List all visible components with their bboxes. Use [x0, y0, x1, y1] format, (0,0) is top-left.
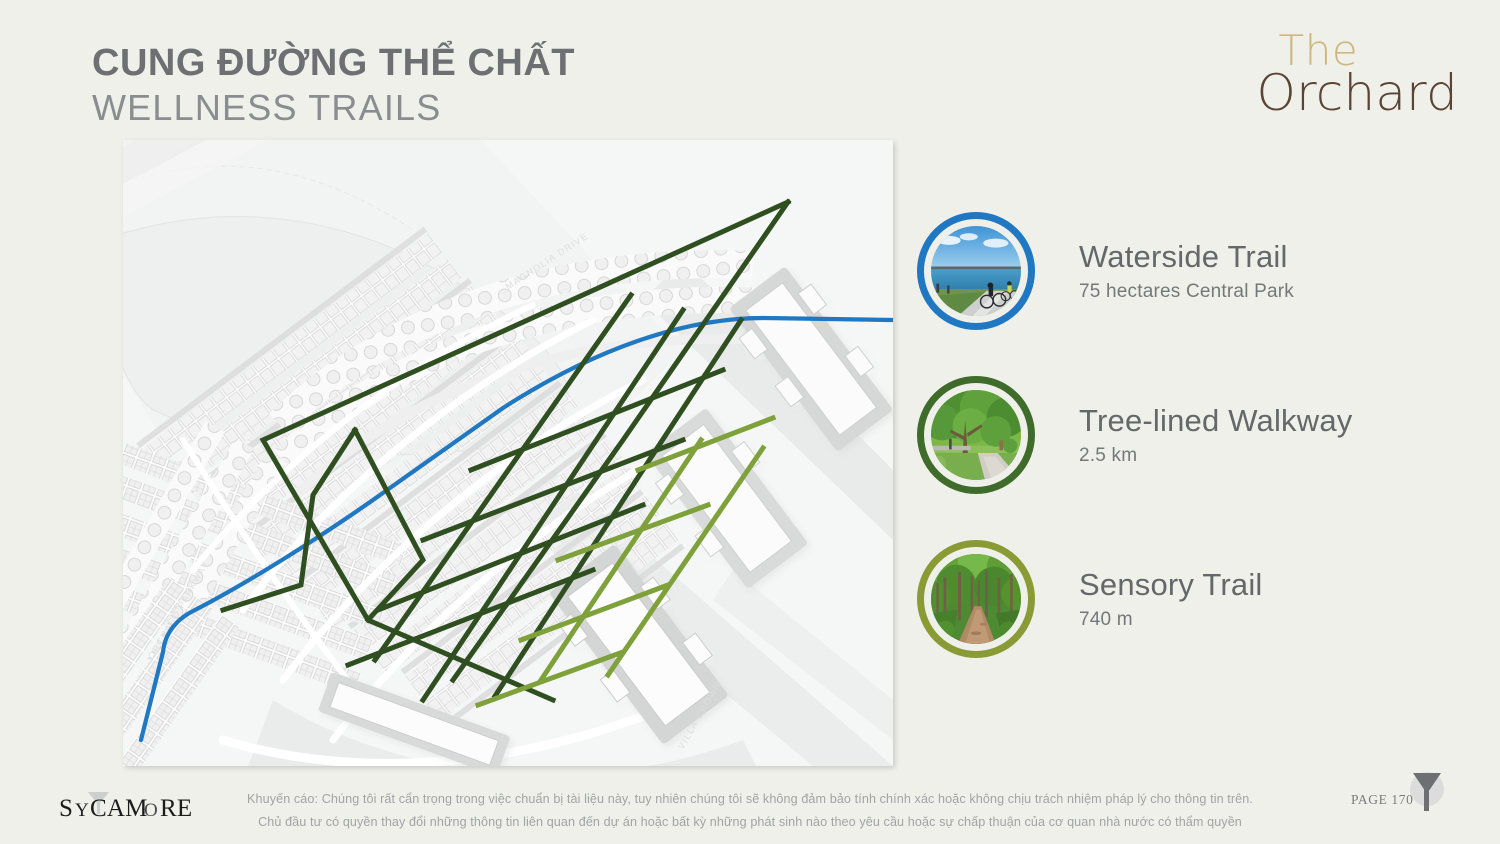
- sensory-trail-text: Sensory Trail 740 m: [1079, 567, 1263, 631]
- tree-lined-walkway-thumbnail[interactable]: [917, 376, 1035, 494]
- waterside-trail-thumbnail[interactable]: [917, 212, 1035, 330]
- legend-title: Sensory Trail: [1079, 567, 1263, 603]
- legend-item-waterside-trail[interactable]: Waterside Trail 75 hectares Central Park: [917, 212, 1477, 330]
- disclaimer-line-1: Khuyến cáo: Chúng tôi rất cẩn trọng tron…: [0, 788, 1500, 811]
- tree-lined-path-photo: [931, 390, 1021, 480]
- svg-text:S: S: [59, 795, 73, 822]
- legend-item-sensory-trail[interactable]: Sensory Trail 740 m: [917, 540, 1477, 658]
- slide-root: CUNG ĐƯỜNG THỂ CHẤT WELLNESS TRAILS The …: [0, 0, 1500, 844]
- trail-legend: Waterside Trail 75 hectares Central Park: [917, 212, 1477, 704]
- disclaimer-line-2: Chủ đầu tư có quyền thay đổi những thông…: [0, 811, 1500, 834]
- brand-logo-line2: Orchard: [1257, 68, 1458, 118]
- tree-lined-walkway-text: Tree-lined Walkway 2.5 km: [1079, 403, 1353, 467]
- title-english: WELLNESS TRAILS: [92, 87, 575, 128]
- legend-title: Tree-lined Walkway: [1079, 403, 1353, 439]
- legend-item-tree-lined-walkway[interactable]: Tree-lined Walkway 2.5 km: [917, 376, 1477, 494]
- sensory-trail-thumbnail[interactable]: [917, 540, 1035, 658]
- forest-trail-photo: [931, 554, 1021, 644]
- title-vietnamese: CUNG ĐƯỜNG THỂ CHẤT: [92, 42, 575, 85]
- legend-title: Waterside Trail: [1079, 239, 1294, 275]
- legend-subtitle: 2.5 km: [1079, 445, 1353, 467]
- map-svg: VILLA CROWN AVENUE 12 MAGNOLIA DRIVE ORC…: [123, 140, 893, 766]
- legend-subtitle: 740 m: [1079, 609, 1263, 631]
- svg-text:Y: Y: [75, 800, 89, 821]
- sycamore-y-icon: [1400, 770, 1454, 818]
- page-title: CUNG ĐƯỜNG THỂ CHẤT WELLNESS TRAILS: [92, 42, 575, 128]
- footer-disclaimer: Khuyến cáo: Chúng tôi rất cẩn trọng tron…: [0, 788, 1500, 835]
- legend-subtitle: 75 hectares Central Park: [1079, 281, 1294, 303]
- svg-text:RE: RE: [160, 795, 192, 822]
- svg-text:O: O: [144, 800, 158, 821]
- svg-text:CAM: CAM: [90, 795, 148, 822]
- masterplan-map[interactable]: VILLA CROWN AVENUE 12 MAGNOLIA DRIVE ORC…: [123, 140, 893, 766]
- sycamore-logo: S Y CAM O RE: [57, 788, 207, 828]
- waterside-cyclists-photo: [931, 226, 1021, 316]
- waterside-trail-text: Waterside Trail 75 hectares Central Park: [1079, 239, 1294, 303]
- brand-logo: The Orchard: [1257, 30, 1458, 118]
